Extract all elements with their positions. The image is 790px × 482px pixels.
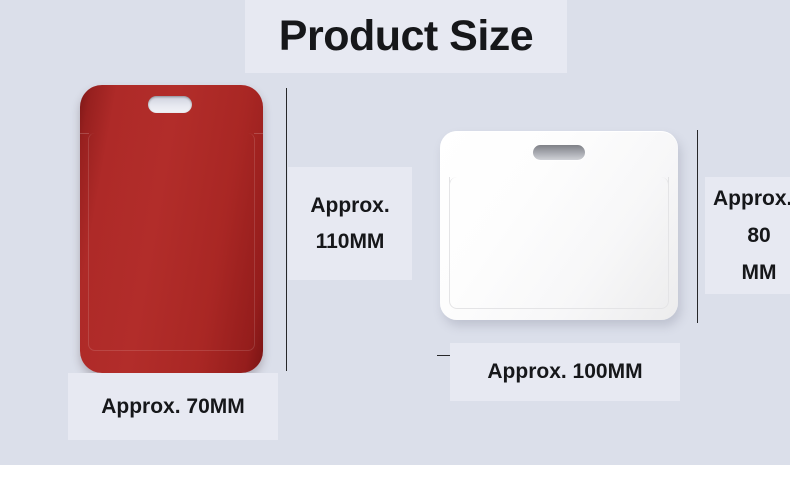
white-card-lanyard-slot (533, 145, 585, 160)
dimension-line-2: 80 (747, 217, 770, 254)
dimension-label-red-card-height: Approx. 110MM (288, 167, 412, 280)
red-card-inner-outline (88, 133, 255, 351)
red-card-product-image (80, 85, 263, 373)
dimension-label-white-card-width: Approx. 100MM (450, 343, 680, 401)
dimension-line-1: Approx. (310, 188, 389, 224)
page-title: Product Size (245, 7, 567, 67)
dimension-line-1: Approx. 100MM (487, 357, 642, 387)
product-size-infographic: Product Size Approx. 110MM Approx. 70MM … (0, 0, 790, 482)
dimension-label-white-card-height: Approx. 80 MM (705, 177, 790, 294)
dimension-line-2: 110MM (316, 224, 385, 260)
red-card-notch-left-icon (80, 133, 89, 134)
dimension-label-red-card-width: Approx. 70MM (68, 373, 278, 440)
dimension-line-3: MM (742, 254, 777, 291)
white-card-inner-outline (449, 177, 669, 309)
red-card-notch-right-icon (254, 133, 263, 134)
measurement-line-white-card-height (697, 130, 698, 323)
white-card-product-image (440, 131, 678, 320)
measurement-line-red-card-height (286, 88, 287, 371)
red-card-lanyard-slot (148, 96, 192, 113)
dimension-line-1: Approx. (713, 180, 790, 217)
dimension-line-1: Approx. 70MM (101, 392, 245, 422)
